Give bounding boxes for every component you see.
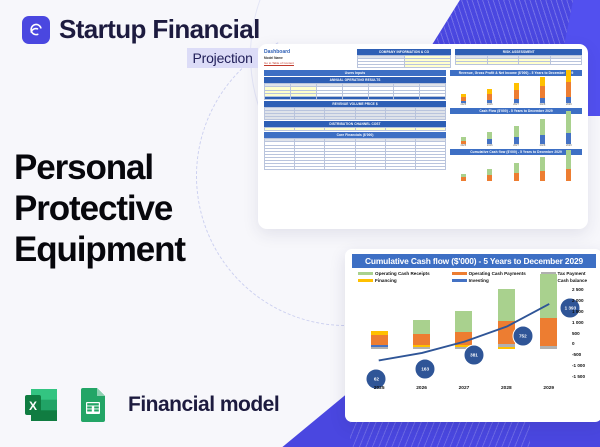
- page-title: Personal Protective Equipment: [14, 148, 185, 271]
- y-tick-label: -500: [572, 352, 596, 357]
- dashboard-revenue-table: [264, 107, 446, 120]
- mini-bar: [540, 119, 545, 144]
- data-point-label-2027: 381: [464, 345, 485, 366]
- legend-swatch-icon: [358, 279, 373, 282]
- table-row: [265, 96, 446, 99]
- mini-x-label: 2028: [540, 144, 546, 147]
- x-tick-label: 2027: [455, 386, 472, 391]
- x-tick-label: 2029: [540, 386, 557, 391]
- cash-balance-line: [358, 287, 570, 374]
- mini-bar: [514, 83, 519, 103]
- swirl-e-logo-icon: [22, 16, 50, 44]
- y-tick-label: 500: [572, 331, 596, 336]
- mini-bar: [566, 70, 571, 103]
- mini-bar: [487, 89, 492, 103]
- brand-row: Startup Financial: [22, 14, 260, 45]
- microsoft-excel-icon: X: [22, 385, 62, 425]
- mini-bar: [461, 94, 466, 103]
- data-point-label-2028: 752: [512, 325, 533, 346]
- badge-row: Projection: [22, 48, 260, 68]
- dashboard-chart-header-1: Revenue, Gross Profit & Net Income ($'00…: [450, 70, 582, 76]
- dashboard-toc-link: Go to Table of Content: [264, 61, 353, 65]
- chart-title: Cumulative Cash flow ($'000) - 5 Years t…: [352, 254, 596, 268]
- table-row: [357, 65, 451, 68]
- mini-bar: [540, 157, 545, 181]
- svg-text:X: X: [29, 399, 37, 413]
- dashboard-annual-table: [264, 83, 446, 99]
- dashboard-risk-table: [455, 55, 582, 65]
- x-tick-label: 2026: [413, 386, 430, 391]
- page-title-line-1: Personal: [14, 148, 185, 189]
- legend-label: Financing: [375, 278, 397, 283]
- table-row: [265, 128, 446, 131]
- dashboard-subtitle: Model Name: [264, 56, 353, 60]
- mini-bar: [566, 111, 571, 144]
- financial-model-label: Financial model: [128, 393, 279, 417]
- mini-bar: [566, 150, 571, 181]
- mini-x-label: 2026: [487, 103, 493, 106]
- y-tick-label: 2 500: [572, 287, 596, 292]
- legend-swatch-icon: [452, 272, 467, 275]
- mini-bar: [487, 169, 492, 181]
- dashboard-title: Dashboard: [264, 49, 353, 55]
- page-title-line-2: Protective: [14, 189, 185, 230]
- x-tick-label: 2028: [498, 386, 515, 391]
- legend-item-operating-cash-payments: Operating Cash Payments: [452, 271, 541, 276]
- dashboard-company-table: [357, 55, 452, 68]
- y-tick-label: 0: [572, 341, 596, 346]
- y-tick-label: 1 500: [572, 309, 596, 314]
- mini-x-label: 2029: [566, 103, 572, 106]
- chart-y-axis: 2 500 2 000 1 500 1 000 500 0 -500 -1 00…: [572, 287, 596, 379]
- legend-swatch-icon: [452, 279, 467, 282]
- page-title-line-3: Equipment: [14, 230, 185, 271]
- mini-x-label: 2026: [487, 144, 493, 147]
- mini-x-label: 2027: [513, 103, 519, 106]
- table-row: [456, 62, 582, 65]
- legend-label: Investing: [469, 278, 489, 283]
- table-row: [265, 117, 446, 120]
- legend-item-operating-cash-receipts: Operating Cash Receipts: [358, 271, 452, 276]
- mini-bar: [540, 77, 545, 103]
- mini-bar: [461, 137, 466, 144]
- mini-x-label: 2027: [513, 144, 519, 147]
- dashboard-mini-chart-1: [450, 77, 582, 103]
- dashboard-mini-chart-2: [450, 114, 582, 144]
- table-row: [265, 167, 446, 170]
- cashflow-chart-card: Cumulative Cash flow ($'000) - 5 Years t…: [345, 249, 600, 422]
- legend-swatch-icon: [358, 272, 373, 275]
- mini-bar: [514, 126, 519, 144]
- brand-header: Startup Financial Projection: [22, 14, 260, 68]
- y-tick-label: 2 000: [572, 298, 596, 303]
- legend-label: Tax Payment: [558, 271, 586, 276]
- chart-plot-area: 62 163 381 752 1 393 2 500 2 000 1 500 1…: [352, 287, 596, 395]
- projection-badge: Projection: [187, 48, 257, 68]
- footer-formats: X Financial model: [22, 385, 279, 425]
- y-tick-label: -1 000: [572, 363, 596, 368]
- dashboard-content: Dashboard Model Name Go to Table of Cont…: [258, 44, 588, 229]
- data-point-label-2026: 163: [415, 359, 436, 380]
- mini-x-label: 2025: [461, 144, 467, 147]
- mini-x-label: 2029: [566, 144, 572, 147]
- y-tick-label: 1 000: [572, 320, 596, 325]
- chart-x-axis: 2025 2026 2027 2028 2029: [358, 381, 570, 395]
- legend-label: Cash balance: [558, 278, 588, 283]
- legend-label: Operating Cash Receipts: [375, 271, 430, 276]
- mini-bar: [461, 174, 466, 181]
- legend-item-financing: Financing: [358, 278, 452, 283]
- legend-item-investing: Investing: [452, 278, 541, 283]
- dashboard-distribution-table: [264, 127, 446, 131]
- dashboard-preview-card: Dashboard Model Name Go to Table of Cont…: [258, 44, 588, 229]
- legend-label: Operating Cash Payments: [469, 271, 526, 276]
- dashboard-core-table: [264, 138, 446, 170]
- mini-bar: [487, 132, 492, 144]
- x-tick-label: 2025: [371, 386, 388, 391]
- dashboard-mini-chart-4: [450, 155, 582, 181]
- chart-legend: Operating Cash Receipts Operating Cash P…: [352, 268, 596, 286]
- y-tick-label: -1 500: [572, 374, 596, 379]
- mini-x-label: 2025: [461, 103, 467, 106]
- brand-name: Startup Financial: [59, 14, 260, 45]
- google-sheets-icon: [73, 385, 113, 425]
- dashboard-section-users: Users Inputs: [264, 70, 446, 76]
- mini-x-label: 2028: [540, 103, 546, 106]
- mini-bar: [514, 163, 519, 181]
